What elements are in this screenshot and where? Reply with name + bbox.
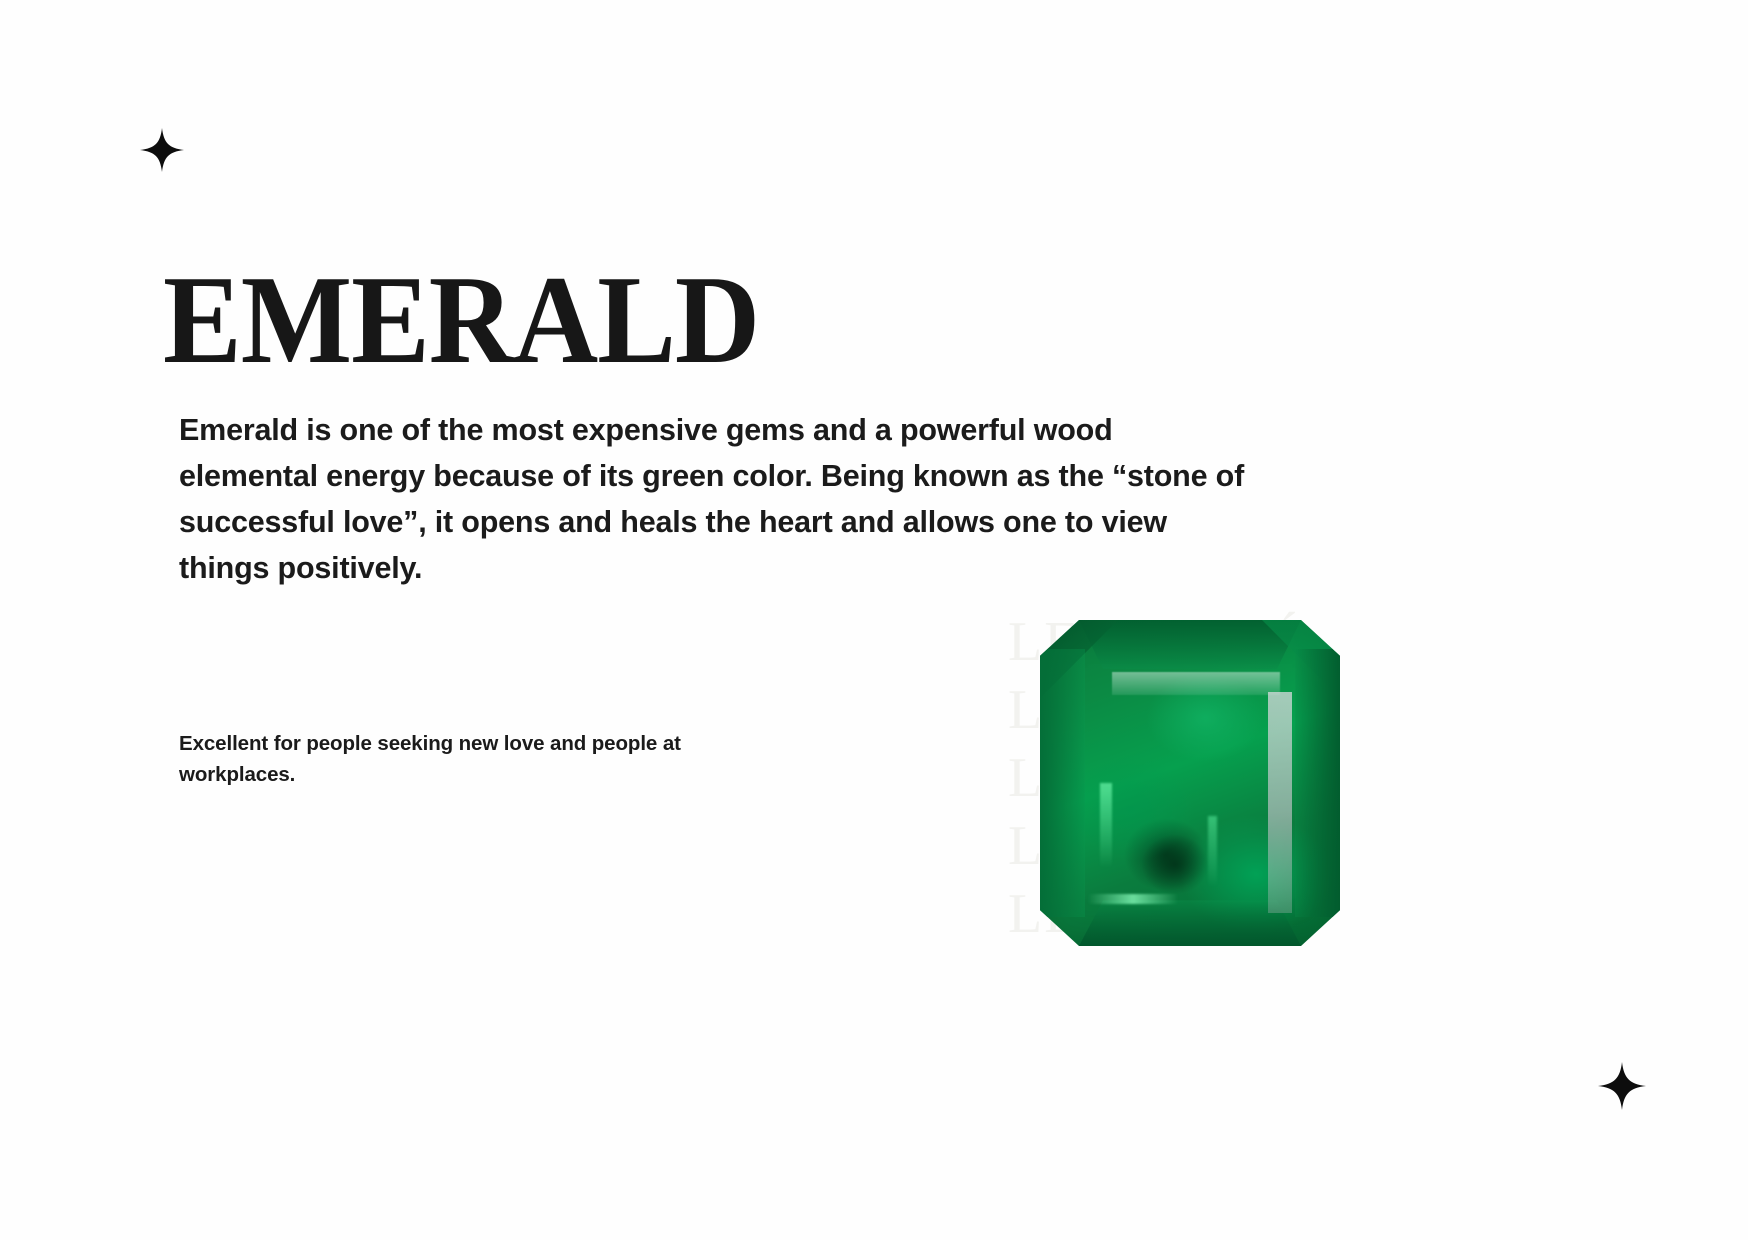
- sparkle-icon: [140, 128, 184, 172]
- gem-light-streak: [1208, 816, 1217, 888]
- gem-inclusion-streak: [1268, 692, 1292, 914]
- note-paragraph: Excellent for people seeking new love an…: [179, 728, 779, 790]
- intro-paragraph: Emerald is one of the most expensive gem…: [179, 407, 1249, 591]
- sparkle-icon: [1598, 1062, 1646, 1110]
- gem-facet-right: [1295, 649, 1340, 916]
- gem-inclusion-dark: [1142, 835, 1208, 894]
- emerald-gem-image: [1040, 620, 1340, 946]
- gem-table-highlight: [1112, 672, 1280, 695]
- gem-facet-left: [1040, 649, 1085, 916]
- gem-light-streak: [1088, 894, 1178, 904]
- gem-light-streak: [1100, 783, 1112, 868]
- poster-page: EMERALD Emerald is one of the most expen…: [0, 0, 1748, 1240]
- page-title: EMERALD: [163, 257, 759, 383]
